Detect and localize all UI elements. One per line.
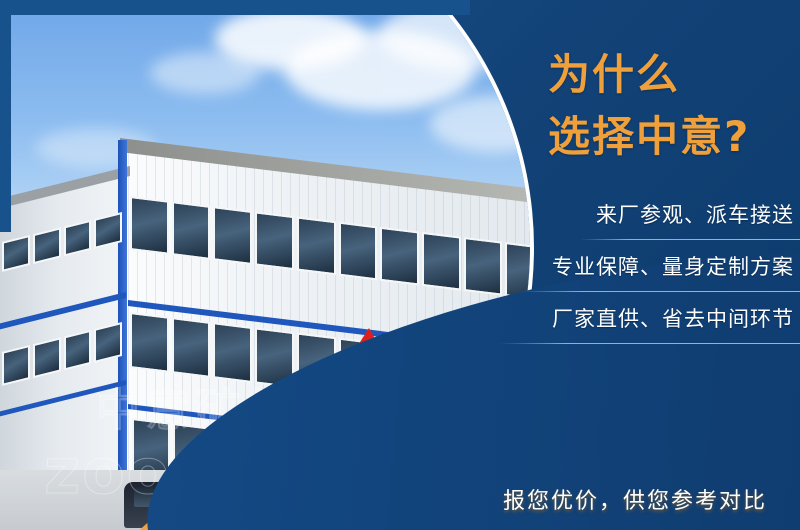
feature-item: 来厂参观、派车接送 xyxy=(480,198,800,250)
feature-label: 专业保障、量身定制方案 xyxy=(552,252,794,282)
feature-divider xyxy=(520,291,800,292)
cloud xyxy=(150,52,260,94)
headline: 为什么 选择中意? xyxy=(548,44,800,168)
feature-label: 厂家直供、省去中间环节 xyxy=(552,304,794,334)
text-column: 为什么 选择中意? 来厂参观、派车接送 专业保障、量身定制方案 厂家直供、省去中… xyxy=(470,0,800,530)
bottom-caption: 报您优价，供您参考对比 xyxy=(470,487,800,517)
feature-item: 厂家直供、省去中间环节 xyxy=(480,302,800,354)
feature-divider xyxy=(580,239,800,240)
feature-item: 专业保障、量身定制方案 xyxy=(480,250,800,302)
top-edge-strip xyxy=(0,0,470,15)
headline-line-1: 为什么 xyxy=(548,50,680,99)
promo-banner: E ZOONYE 中意矿机 中意矿机 zoonyu 为什么 选择中意? 来厂参观… xyxy=(0,0,800,530)
feature-label: 来厂参观、派车接送 xyxy=(596,200,794,230)
headline-line-2: 选择中意? xyxy=(548,106,800,168)
feature-list: 来厂参观、派车接送 专业保障、量身定制方案 厂家直供、省去中间环节 xyxy=(480,198,800,354)
left-edge-strip xyxy=(0,0,11,232)
feature-divider xyxy=(500,343,800,344)
